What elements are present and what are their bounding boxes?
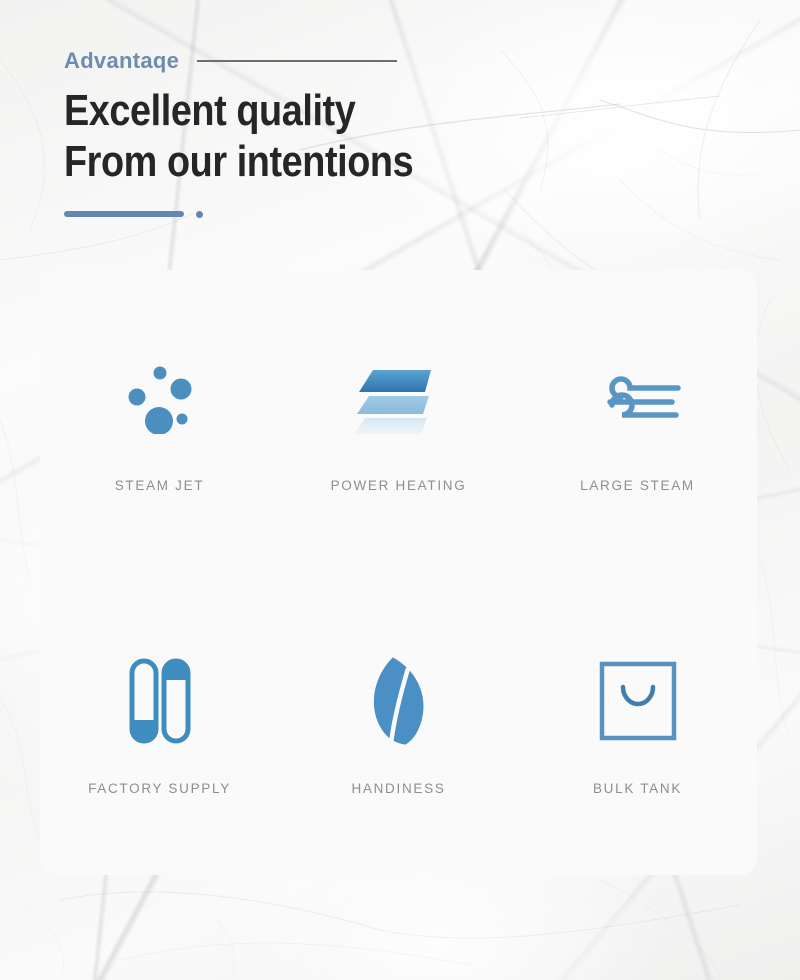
- steam-droplets-icon: [119, 366, 201, 434]
- bag-tank-icon: [598, 660, 678, 742]
- feature-item-factory-supply[interactable]: FACTORY SUPPLY: [40, 573, 279, 876]
- eyebrow-label: Advantaqe: [64, 46, 179, 76]
- icon-container: [105, 651, 215, 751]
- headline-line-1: Excellent quality: [64, 86, 355, 135]
- accent-bar: [64, 211, 184, 217]
- wind-lines-icon: [592, 370, 684, 430]
- feature-item-bulk-tank[interactable]: BULK TANK: [518, 573, 757, 876]
- feature-label: STEAM JET: [115, 478, 205, 493]
- feature-label: HANDINESS: [351, 781, 445, 796]
- icon-container: [105, 350, 215, 450]
- page-root: Advantaqe Excellent quality From our int…: [0, 0, 800, 980]
- icon-container: [344, 350, 454, 450]
- features-card: STEAM JET: [40, 270, 757, 875]
- icon-container: [344, 651, 454, 751]
- icon-container: [583, 350, 693, 450]
- accent-dot: [196, 211, 203, 218]
- icon-container: [583, 651, 693, 751]
- headline-line-2: From our intentions: [64, 137, 649, 188]
- stacked-layers-icon: [351, 362, 447, 438]
- page-title: Excellent quality From our intentions: [64, 86, 649, 187]
- feature-item-power-heating[interactable]: POWER HEATING: [279, 270, 518, 573]
- eyebrow-row: Advantaqe: [64, 46, 744, 76]
- twin-capsules-icon: [129, 658, 191, 744]
- features-grid: STEAM JET: [40, 270, 757, 875]
- section-header: Advantaqe Excellent quality From our int…: [64, 46, 744, 219]
- feature-label: FACTORY SUPPLY: [88, 781, 231, 796]
- feature-label: LARGE STEAM: [580, 478, 695, 493]
- feature-item-steam-jet[interactable]: STEAM JET: [40, 270, 279, 573]
- feature-item-handiness[interactable]: HANDINESS: [279, 573, 518, 876]
- eyebrow-divider-line: [197, 60, 397, 62]
- feature-item-large-steam[interactable]: LARGE STEAM: [518, 270, 757, 573]
- feature-label: BULK TANK: [593, 781, 682, 796]
- feature-label: POWER HEATING: [331, 478, 467, 493]
- leaf-icon: [366, 655, 432, 747]
- accent-underline: [64, 209, 744, 219]
